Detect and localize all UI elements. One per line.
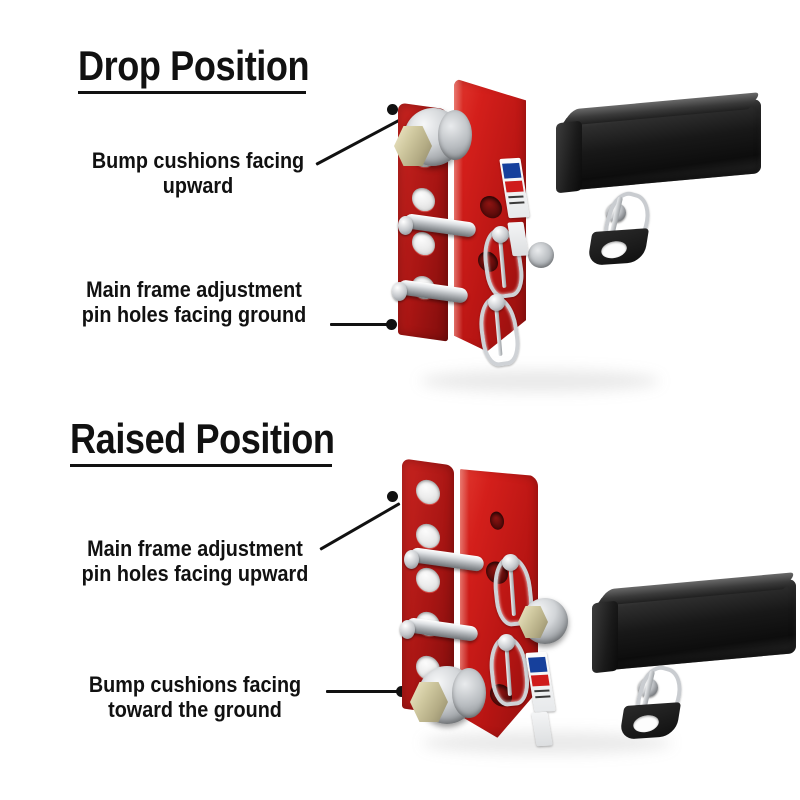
black-receiver-tube	[600, 579, 796, 671]
r-clip-upper-knob	[492, 226, 509, 243]
cross-pin-head	[392, 282, 407, 301]
bump-cushion-pad	[438, 110, 472, 160]
r-clip-upper-knob	[502, 554, 519, 571]
sticker-red-block	[505, 181, 524, 193]
black-receiver-tube	[565, 99, 761, 191]
callout-bump-cushions-ground: Bump cushions facing toward the ground	[81, 672, 308, 722]
adjustment-pin-hole	[412, 230, 435, 256]
safety-chain-tab	[587, 228, 649, 266]
product-image-raised-position	[382, 440, 800, 770]
safety-chain-hole	[632, 714, 660, 733]
sticker-text-bar	[534, 690, 549, 693]
receiver-tube-end	[592, 601, 618, 674]
adjustment-pin-hole	[416, 566, 440, 593]
cross-pin-head	[404, 550, 419, 569]
adjustment-pin-hole	[416, 478, 440, 505]
adjustment-pin-hole	[412, 186, 435, 212]
sticker-red-block	[531, 675, 550, 687]
adjustment-pin-hole	[416, 522, 440, 549]
r-clip-lower-knob	[488, 294, 505, 311]
callout-bump-cushions-upward: Bump cushions facing upward	[85, 148, 310, 198]
panel-raised-position: Raised Position Main frame adjustment pi…	[0, 400, 800, 800]
r-clip-lower-knob	[498, 634, 515, 651]
heading-underline-raised	[70, 464, 332, 467]
bump-cushion-pad	[452, 668, 486, 718]
frame-hole	[480, 194, 502, 219]
safety-chain-tab	[619, 702, 681, 740]
safety-chain-hole	[600, 240, 628, 259]
pivot-bolt	[528, 242, 554, 268]
sticker-text-bar	[508, 196, 523, 199]
cross-pin-head	[400, 620, 415, 639]
sticker-text-bar	[509, 201, 524, 204]
product-shadow	[420, 370, 660, 392]
callout-pin-holes-upward: Main frame adjustment pin holes facing u…	[78, 536, 312, 586]
sticker-blue-block	[528, 657, 547, 673]
heading-drop-position: Drop Position	[78, 45, 309, 87]
receiver-tube-end	[556, 121, 582, 194]
callout-pin-holes-ground: Main frame adjustment pin holes facing g…	[78, 277, 310, 327]
product-label-sticker	[525, 652, 555, 712]
heading-underline-drop	[78, 91, 306, 94]
receiver-tube-top-face	[561, 92, 762, 126]
frame-hole	[490, 511, 504, 531]
product-image-drop-position	[380, 70, 800, 400]
heading-raised-position: Raised Position	[70, 418, 335, 460]
panel-drop-position: Drop Position Bump cushions facing upwar…	[0, 0, 800, 400]
sticker-text-bar	[535, 695, 550, 698]
receiver-tube-top-face	[596, 572, 797, 606]
sticker-blue-block	[502, 163, 521, 179]
cross-pin-head	[398, 216, 413, 235]
